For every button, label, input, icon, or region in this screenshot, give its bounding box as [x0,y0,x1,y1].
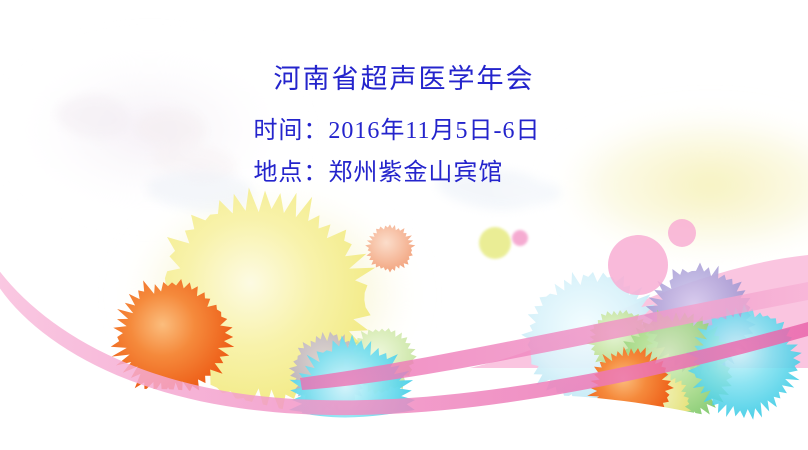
burst-peach-small [365,224,415,272]
circle-pink-dot [512,230,528,246]
burst-cyan-bottom [289,334,415,450]
burst-green-small [586,310,653,372]
bubble-layer [479,219,696,295]
burst-green-mid [348,328,417,394]
white-bottom-cover [0,411,808,450]
circle-pink-large [608,235,668,295]
burst-cyan-farright [686,304,802,420]
ribbon-pink-sweep [0,258,808,415]
poster-text-block: 河南省超声医学年会 时间：2016年11月5日-6日 地点：郑州紫金山宾馆 [0,62,808,194]
ribbon-pink-upper-right [470,255,808,368]
burst-yellow-center [148,188,375,415]
glow-yellow-center-soft [120,185,420,405]
poster-info-location: 地点：郑州紫金山宾馆 [253,152,540,194]
ribbon-pink-thin [300,282,808,390]
burst-palecyan-right [521,272,663,411]
circle-yellow-dot [479,227,511,259]
conference-poster: 河南省超声医学年会 时间：2016年11月5日-6日 地点：郑州紫金山宾馆 [0,0,808,450]
circle-pink-small [668,219,696,247]
burst-purple-mid [289,332,370,413]
burst-orange-left [111,279,235,399]
poster-title: 河南省超声医学年会 [0,62,808,96]
burst-yellow-right [623,369,691,439]
poster-info-list: 时间：2016年11月5日-6日 地点：郑州紫金山宾馆 [253,110,540,194]
white-bottom-wave [0,389,808,450]
burst-orange-right [587,346,674,431]
poster-info-time: 时间：2016年11月5日-6日 [253,110,540,152]
burst-green-right [620,310,734,428]
burst-purple-right [644,263,756,378]
